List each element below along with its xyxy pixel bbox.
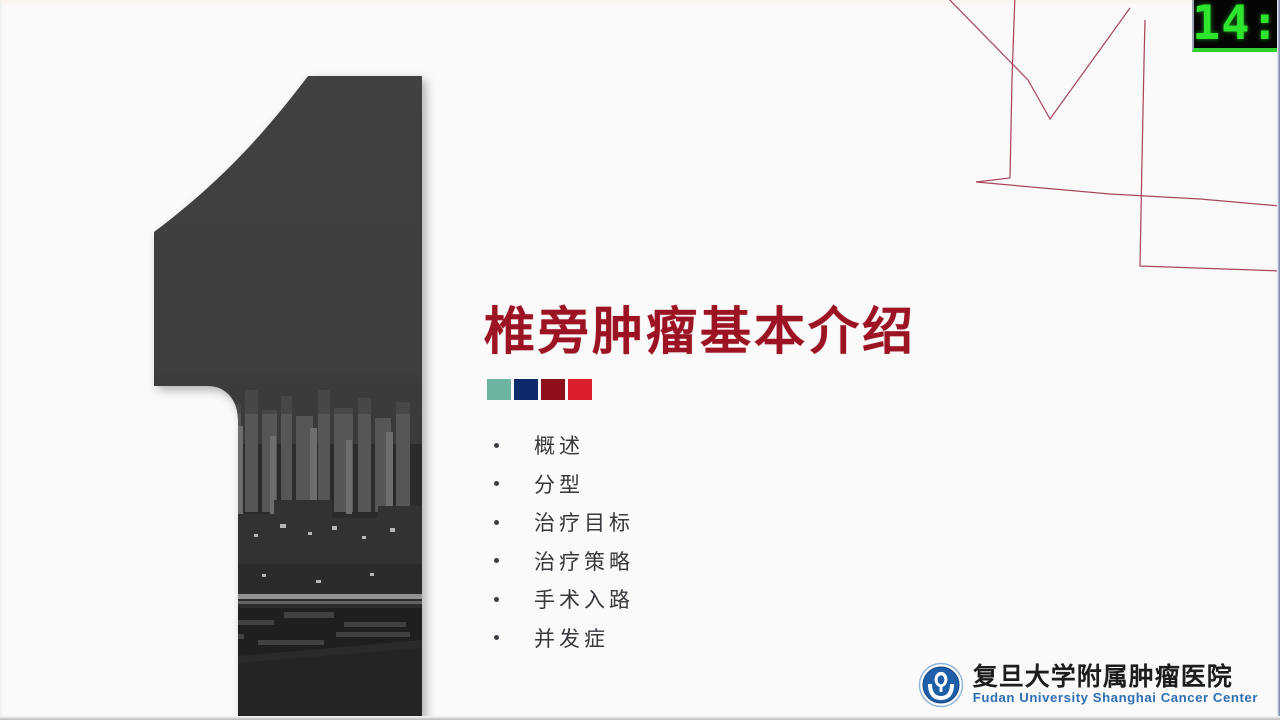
swatch-maroon [541, 379, 565, 400]
bullet-dot-icon [494, 520, 499, 525]
list-item: 治疗策略 [494, 542, 1224, 581]
list-item: 分型 [494, 465, 1224, 504]
list-item: 手术入路 [494, 580, 1224, 619]
bullet-dot-icon [494, 597, 499, 602]
section-number-one-shape [150, 74, 422, 720]
bottom-edge-border [0, 716, 1280, 720]
color-swatch-row [487, 379, 1224, 400]
logo-name-cn: 复旦大学附属肿瘤医院 [973, 664, 1258, 690]
list-item-label: 手术入路 [534, 584, 634, 614]
left-edge-border [0, 0, 2, 720]
list-item-label: 并发症 [534, 623, 609, 653]
clock-time-display: 14:49 [1192, 0, 1280, 48]
page-title: 椎旁肿瘤基本介绍 [484, 305, 1224, 360]
hospital-logo: 复旦大学附属肿瘤医院 Fudan University Shanghai Can… [918, 662, 1258, 708]
bullet-dot-icon [494, 635, 499, 640]
bullet-dot-icon [494, 558, 499, 563]
bullet-dot-icon [494, 443, 499, 448]
list-item-label: 治疗策略 [534, 546, 634, 576]
list-item: 概述 [494, 426, 1224, 465]
swatch-navy [514, 379, 538, 400]
section-number-graphic [150, 74, 422, 720]
presentation-slide: 椎旁肿瘤基本介绍 概述 分型 治疗目标 治疗策略 [0, 0, 1280, 720]
countdown-clock: 14:49 [1192, 0, 1280, 52]
list-item-label: 治疗目标 [534, 507, 634, 537]
list-item: 治疗目标 [494, 503, 1224, 542]
list-item-label: 分型 [534, 469, 584, 499]
swatch-red [568, 379, 592, 400]
logo-name-en: Fudan University Shanghai Cancer Center [973, 691, 1258, 706]
slide-content-column: 椎旁肿瘤基本介绍 概述 分型 治疗目标 治疗策略 [484, 305, 1224, 657]
logo-text-block: 复旦大学附属肿瘤医院 Fudan University Shanghai Can… [973, 664, 1258, 706]
bullet-dot-icon [494, 481, 499, 486]
list-item: 并发症 [494, 619, 1224, 658]
list-item-label: 概述 [534, 430, 584, 460]
hospital-emblem-icon [918, 662, 964, 708]
swatch-teal [487, 379, 511, 400]
agenda-list: 概述 分型 治疗目标 治疗策略 手术入路 并发症 [494, 426, 1224, 657]
